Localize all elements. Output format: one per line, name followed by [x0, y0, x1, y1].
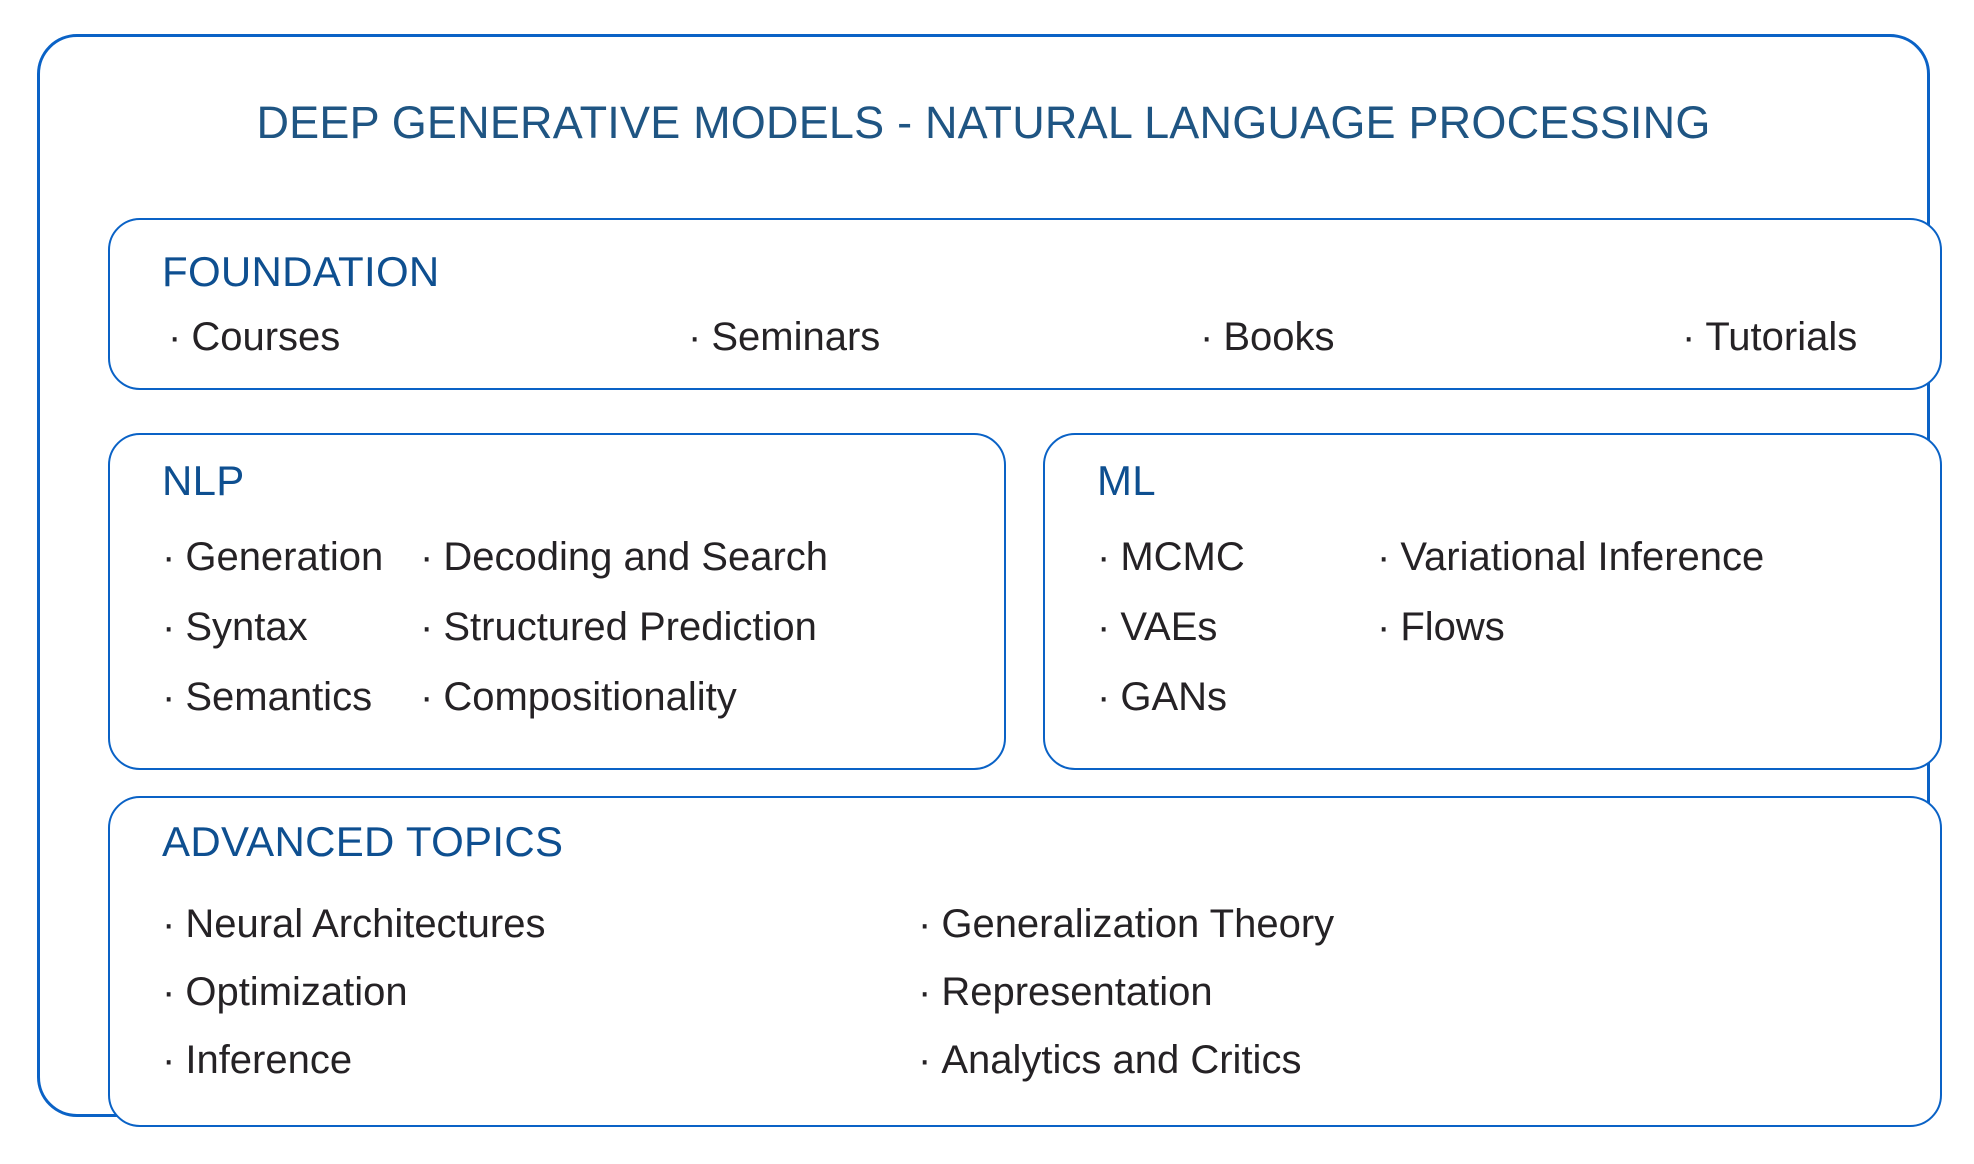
list-item: ·Decoding and Search — [420, 535, 828, 580]
bullet-dot-icon: · — [162, 970, 175, 1015]
list-item: ·Seminars — [688, 315, 880, 360]
diagram-outer-container: DEEP GENERATIVE MODELS - NATURAL LANGUAG… — [37, 34, 1930, 1117]
list-item: ·Tutorials — [1682, 315, 1857, 360]
list-item-label: Books — [1223, 315, 1334, 359]
section-card-foundation: FOUNDATION ·Courses ·Seminars ·Books ·Tu… — [108, 218, 1942, 390]
bullet-dot-icon: · — [1200, 315, 1213, 360]
bullet-dot-icon: · — [162, 902, 175, 947]
list-item-label: MCMC — [1120, 535, 1244, 579]
bullet-dot-icon: · — [162, 535, 175, 580]
list-item: ·GANs — [1097, 675, 1227, 720]
list-item: ·Representation — [918, 970, 1213, 1015]
list-item-label: Syntax — [185, 605, 307, 649]
bullet-dot-icon: · — [162, 1038, 175, 1083]
list-item-label: Optimization — [185, 970, 407, 1014]
section-heading-foundation: FOUNDATION — [162, 248, 440, 296]
list-item-label: Compositionality — [443, 675, 736, 719]
bullet-dot-icon: · — [162, 605, 175, 650]
list-item: ·Generalization Theory — [918, 902, 1334, 947]
list-item-label: GANs — [1120, 675, 1227, 719]
list-item-label: Analytics and Critics — [941, 1038, 1301, 1082]
list-item-label: VAEs — [1120, 605, 1217, 649]
list-item-label: Courses — [191, 315, 340, 359]
bullet-dot-icon: · — [918, 1038, 931, 1083]
list-item-label: Structured Prediction — [443, 605, 817, 649]
list-item-label: Decoding and Search — [443, 535, 828, 579]
list-item: ·Optimization — [162, 970, 408, 1015]
list-item: ·MCMC — [1097, 535, 1245, 580]
section-heading-nlp: NLP — [162, 457, 245, 505]
list-item: ·Books — [1200, 315, 1335, 360]
list-item: ·Compositionality — [420, 675, 737, 720]
section-card-ml: ML ·MCMC ·VAEs ·GANs ·Variational Infere… — [1043, 433, 1942, 770]
bullet-dot-icon: · — [162, 675, 175, 720]
section-card-advanced-topics: ADVANCED TOPICS ·Neural Architectures ·O… — [108, 796, 1942, 1127]
list-item: ·Variational Inference — [1377, 535, 1764, 580]
bullet-dot-icon: · — [168, 315, 181, 360]
list-item-label: Tutorials — [1705, 315, 1857, 359]
list-item-label: Variational Inference — [1400, 535, 1764, 579]
diagram-title: DEEP GENERATIVE MODELS - NATURAL LANGUAG… — [40, 97, 1927, 149]
list-item: ·Flows — [1377, 605, 1505, 650]
bullet-dot-icon: · — [1682, 315, 1695, 360]
list-item: ·Generation — [162, 535, 383, 580]
list-item-label: Neural Architectures — [185, 902, 545, 946]
bullet-dot-icon: · — [1097, 535, 1110, 580]
list-item-label: Representation — [941, 970, 1212, 1014]
bullet-dot-icon: · — [688, 315, 701, 360]
list-item: ·VAEs — [1097, 605, 1217, 650]
bullet-dot-icon: · — [918, 902, 931, 947]
list-item: ·Analytics and Critics — [918, 1038, 1301, 1083]
list-item: ·Inference — [162, 1038, 352, 1083]
list-item: ·Structured Prediction — [420, 605, 817, 650]
list-item-label: Generation — [185, 535, 383, 579]
list-item-label: Generalization Theory — [941, 902, 1334, 946]
list-item-label: Seminars — [711, 315, 880, 359]
section-heading-advanced-topics: ADVANCED TOPICS — [162, 818, 563, 866]
list-item-label: Flows — [1400, 605, 1504, 649]
list-item: ·Semantics — [162, 675, 372, 720]
list-item: ·Neural Architectures — [162, 902, 545, 947]
list-item: ·Courses — [168, 315, 340, 360]
list-item-label: Inference — [185, 1038, 352, 1082]
list-item-label: Semantics — [185, 675, 372, 719]
bullet-dot-icon: · — [420, 605, 433, 650]
bullet-dot-icon: · — [1097, 675, 1110, 720]
bullet-dot-icon: · — [1377, 605, 1390, 650]
list-item: ·Syntax — [162, 605, 308, 650]
bullet-dot-icon: · — [918, 970, 931, 1015]
bullet-dot-icon: · — [420, 675, 433, 720]
bullet-dot-icon: · — [1377, 535, 1390, 580]
bullet-dot-icon: · — [1097, 605, 1110, 650]
section-card-nlp: NLP ·Generation ·Syntax ·Semantics ·Deco… — [108, 433, 1006, 770]
section-heading-ml: ML — [1097, 457, 1156, 505]
bullet-dot-icon: · — [420, 535, 433, 580]
